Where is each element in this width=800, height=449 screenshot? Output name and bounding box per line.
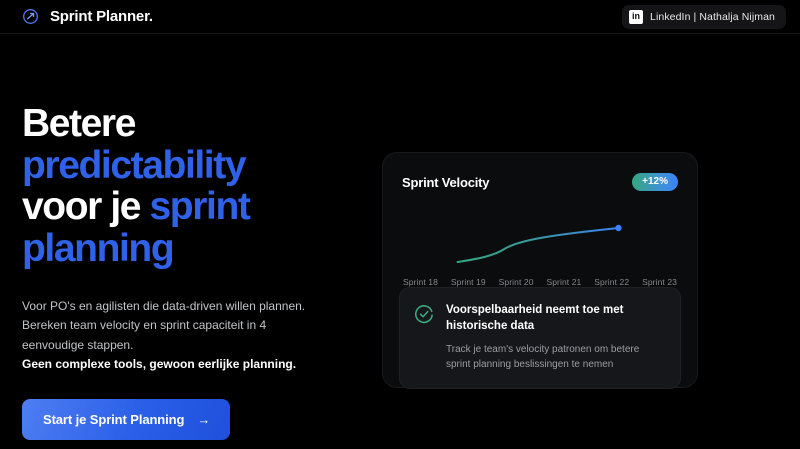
site-header: Sprint Planner. in LinkedIn | Nathalja N… xyxy=(0,0,800,34)
chart-endpoint-marker xyxy=(615,225,621,231)
chart-line xyxy=(458,228,619,262)
x-tick-label: Sprint 20 xyxy=(499,277,534,287)
linkedin-label: LinkedIn | Nathalja Nijman xyxy=(650,11,775,23)
cta-label: Start je Sprint Planning xyxy=(43,412,184,427)
hero-description-strong: Geen complexe tools, gewoon eerlijke pla… xyxy=(22,355,322,374)
brand-name: Sprint Planner. xyxy=(50,8,153,25)
x-tick-label: Sprint 22 xyxy=(594,277,629,287)
headline-line-3-plain: voor je xyxy=(22,185,150,228)
velocity-line-chart: Sprint 18 Sprint 19 Sprint 20 Sprint 21 … xyxy=(402,205,678,271)
hero-section: Betere predictability voor je sprint pla… xyxy=(22,103,352,449)
chart-svg xyxy=(402,205,678,271)
circle-arrow-icon xyxy=(22,8,39,25)
brand-logo[interactable]: Sprint Planner. xyxy=(22,8,153,25)
linkedin-icon: in xyxy=(629,10,643,24)
linkedin-link[interactable]: in LinkedIn | Nathalja Nijman xyxy=(622,5,786,29)
hero-description-text: Voor PO's en agilisten die data-driven w… xyxy=(22,299,305,352)
insight-body: Track je team's velocity patronen om bet… xyxy=(446,342,666,373)
hero-description: Voor PO's en agilisten die data-driven w… xyxy=(22,297,322,375)
landing-page: Sprint Planner. in LinkedIn | Nathalja N… xyxy=(0,0,800,449)
arrow-right-icon: → xyxy=(197,413,210,426)
status-badge: +12% xyxy=(632,173,678,191)
insight-title: Voorspelbaarheid neemt toe met historisc… xyxy=(446,302,666,335)
headline-line-3-accent: sprint xyxy=(150,185,250,228)
insight-text-block: Voorspelbaarheid neemt toe met historisc… xyxy=(446,302,666,373)
page-title: Betere predictability voor je sprint pla… xyxy=(22,103,352,270)
chart-x-axis: Sprint 18 Sprint 19 Sprint 20 Sprint 21 … xyxy=(402,277,678,287)
card-header: Sprint Velocity +12% xyxy=(402,173,678,191)
start-sprint-planning-button[interactable]: Start je Sprint Planning → xyxy=(22,399,230,440)
headline-line-1: Betere xyxy=(22,102,135,145)
x-tick-label: Sprint 23 xyxy=(642,277,677,287)
check-circle-icon xyxy=(413,302,435,330)
headline-line-4: planning xyxy=(22,227,173,270)
sprint-velocity-card: Sprint Velocity +12% Sprint 18 Sprint 19 xyxy=(382,152,698,388)
x-tick-label: Sprint 19 xyxy=(451,277,486,287)
card-title: Sprint Velocity xyxy=(402,175,489,190)
insight-panel: Voorspelbaarheid neemt toe met historisc… xyxy=(399,287,681,389)
x-tick-label: Sprint 21 xyxy=(546,277,581,287)
headline-line-2: predictability xyxy=(22,144,245,187)
x-tick-label: Sprint 18 xyxy=(403,277,438,287)
